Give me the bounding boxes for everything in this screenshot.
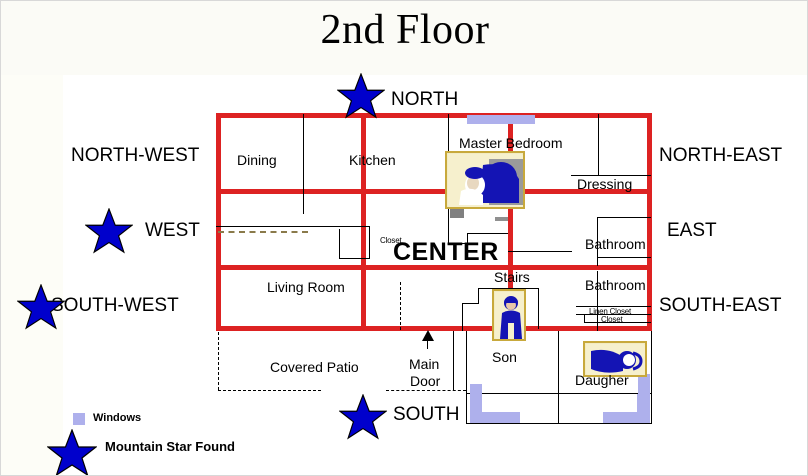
mountain-star-icon-north [337, 73, 385, 119]
mountain-star-icon-south-west [17, 284, 65, 330]
main-door-arrow-icon [422, 330, 434, 341]
main-door-arrow-stem [427, 339, 428, 349]
room-label-kitchen: Kitchen [349, 152, 396, 168]
room-label-covered-patio: Covered Patio [270, 359, 359, 375]
wall-bathroom1-top [597, 217, 651, 218]
wall-center-left [216, 226, 301, 227]
room-label-closet-southeast: Closet [601, 315, 622, 324]
legend-star-label: Mountain Star Found [105, 439, 235, 454]
room-label-dressing: Dressing [577, 176, 632, 192]
wall-center-right [508, 251, 572, 252]
room-label-daughter: Daugher [575, 372, 629, 388]
page-title: 2nd Floor [1, 7, 808, 53]
wall-stairs-left-lower [462, 303, 463, 331]
grid-line-v-left [216, 113, 221, 331]
legend-mountain-star-icon [47, 429, 97, 476]
wall-stairs-left-upper [478, 288, 479, 303]
room-label-bathroom-upper: Bathroom [585, 236, 646, 252]
wall-dashed-living-patio [400, 282, 401, 330]
room-label-son: Son [492, 349, 517, 365]
window-daughter-bottom-h [603, 412, 650, 423]
wall-patio-left [218, 332, 219, 390]
compass-label-south-east: SOUTH-EAST [659, 295, 781, 317]
direction-grid [216, 113, 652, 331]
wall-closet-bottom [339, 258, 370, 259]
compass-label-south: SOUTH [393, 404, 460, 426]
wall-bottom-room-divider [466, 393, 652, 394]
wall-master-bottom [467, 233, 508, 234]
grid-line-h-top [216, 113, 652, 118]
window-master-bedroom [467, 115, 535, 124]
room-label-main-door-line2: Door [410, 373, 440, 389]
wall-stairs-step [462, 303, 479, 304]
wall-dining-kitchen [303, 114, 304, 214]
compass-label-west: WEST [145, 220, 200, 242]
compass-label-north-east: NORTH-EAST [659, 145, 782, 167]
window-son-bottom-h [470, 412, 520, 423]
wall-dashed-west [218, 231, 308, 233]
room-label-bathroom-lower: Bathroom [585, 277, 646, 293]
room-label-dining: Dining [237, 152, 277, 168]
wall-house-right-bottom [651, 331, 652, 424]
wall-closet-right [369, 226, 370, 259]
furniture-block-center [495, 217, 508, 221]
wall-bathroom1-bottom [597, 257, 651, 258]
legend-windows-label: Windows [93, 412, 141, 424]
wall-center-closet-top [301, 226, 369, 227]
wall-stairs-right [538, 288, 539, 329]
portrait-son [492, 289, 526, 341]
wall-patio-right [453, 331, 454, 391]
window-daughter-upper [638, 374, 650, 394]
wall-closet-left [339, 229, 340, 259]
wall-son-left [466, 331, 467, 424]
grid-line-v-midleft [361, 113, 366, 331]
window-son-upper [470, 384, 482, 394]
room-label-master-bedroom: Master Bedroom [459, 135, 562, 151]
room-label-living-room: Living Room [267, 279, 345, 295]
portrait-figure-parents [449, 155, 525, 209]
wall-closet-se-left [584, 314, 585, 322]
grid-line-v-right [647, 113, 652, 331]
wall-patio-bottom-right [386, 390, 466, 391]
portrait-figure-son [496, 293, 526, 341]
compass-label-north: NORTH [391, 89, 458, 111]
wall-patio-bottom-left [218, 390, 321, 391]
wall-master-dressing [598, 114, 599, 176]
wall-son-daughter-divider [558, 331, 559, 423]
mountain-star-icon-west [85, 208, 133, 254]
floor-plan-page: 2nd Floor [0, 0, 808, 476]
room-label-stairs: Stairs [494, 269, 530, 285]
compass-label-south-west: SOUTH-WEST [51, 295, 179, 317]
mountain-star-icon-south [339, 394, 387, 440]
wall-house-bottom [466, 423, 652, 424]
room-label-main-door-line1: Main [409, 356, 439, 372]
compass-label-north-west: NORTH-WEST [71, 145, 199, 167]
legend-windows-swatch [73, 413, 85, 425]
grid-line-h-bottom [216, 326, 652, 331]
compass-label-east: EAST [667, 220, 717, 242]
room-label-center: CENTER [393, 238, 499, 267]
portrait-master-bedroom [445, 151, 525, 209]
